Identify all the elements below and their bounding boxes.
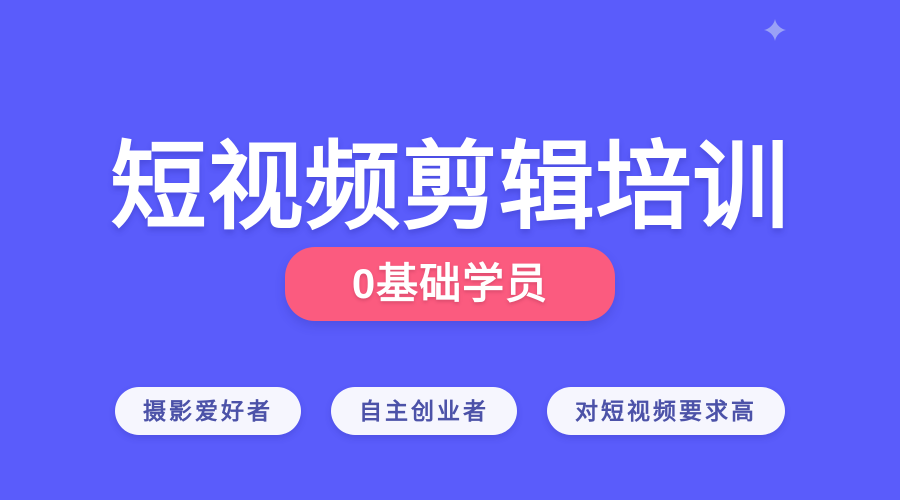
status-badge-label: 0基础学员 — [352, 263, 548, 305]
audience-tag-label: 摄影爱好者 — [143, 400, 273, 423]
badge-row: 0基础学员 — [0, 247, 900, 321]
audience-tag-high-standard[interactable]: 对短视频要求高 — [547, 387, 785, 435]
diamond-sparkle-icon — [763, 18, 787, 42]
audience-tag-entrepreneur[interactable]: 自主创业者 — [331, 387, 517, 435]
status-badge: 0基础学员 — [285, 247, 615, 321]
promo-poster: 短视频剪辑培训 0基础学员 摄影爱好者 自主创业者 对短视频要求高 — [0, 0, 900, 500]
audience-tag-photography[interactable]: 摄影爱好者 — [115, 387, 301, 435]
audience-tag-row: 摄影爱好者 自主创业者 对短视频要求高 — [0, 387, 900, 435]
audience-tag-label: 对短视频要求高 — [575, 400, 757, 423]
audience-tag-label: 自主创业者 — [359, 400, 489, 423]
page-title: 短视频剪辑培训 — [0, 136, 900, 240]
